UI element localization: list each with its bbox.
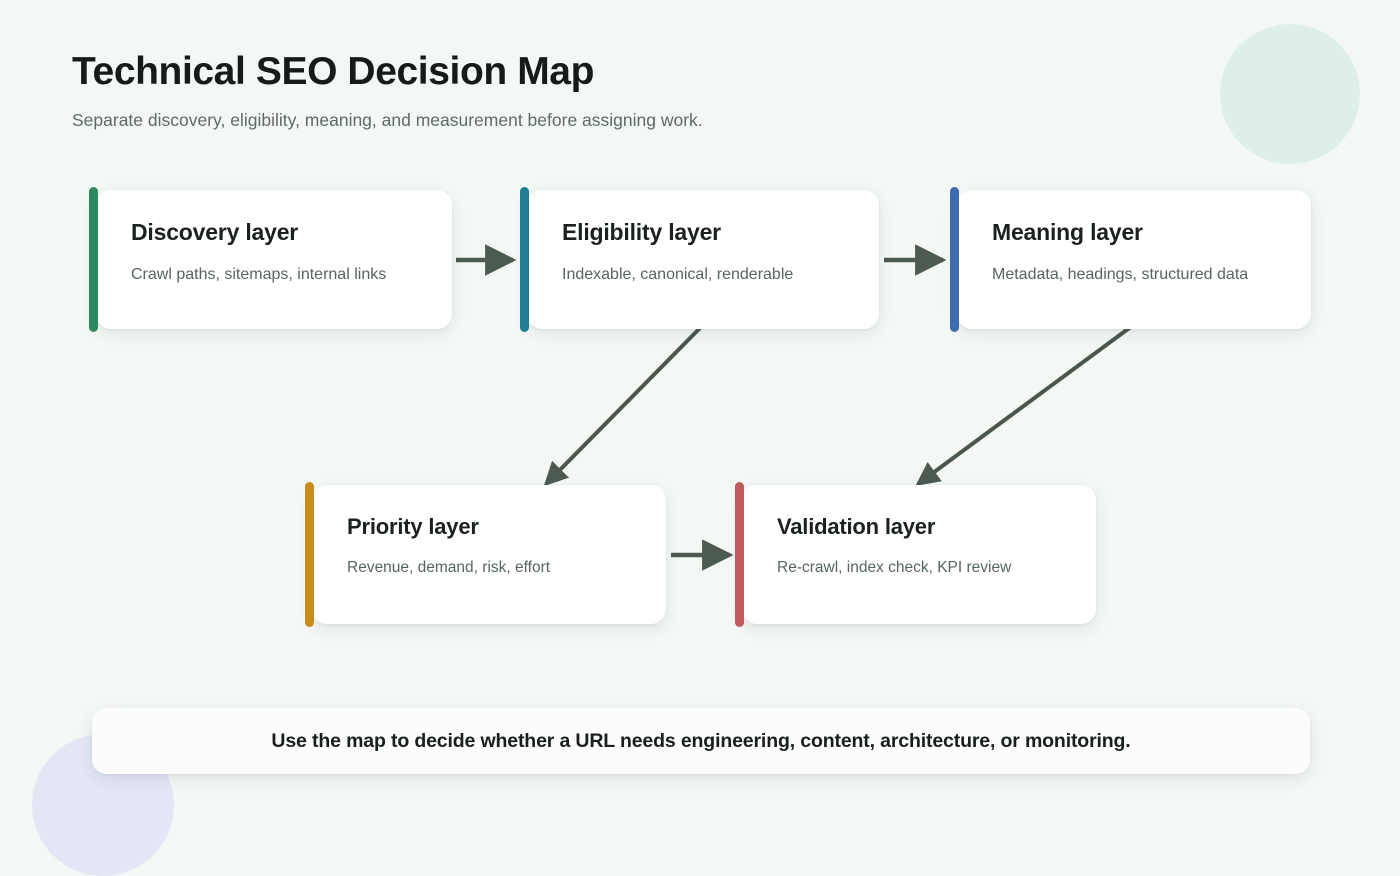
node-description: Revenue, demand, risk, effort	[347, 559, 638, 578]
arrow-meaning-to-validation	[918, 326, 1132, 484]
arrow-eligibility-to-priority	[546, 326, 702, 484]
node-body: Discovery layer Crawl paths, sitemaps, i…	[96, 190, 452, 329]
node-description: Re-crawl, index check, KPI review	[777, 559, 1068, 578]
page-subtitle: Separate discovery, eligibility, meaning…	[72, 109, 703, 132]
node-accent-bar-meaning	[950, 187, 959, 332]
node-card-priority[interactable]: Priority layer Revenue, demand, risk, ef…	[312, 485, 666, 624]
node-card-discovery[interactable]: Discovery layer Crawl paths, sitemaps, i…	[96, 190, 452, 329]
node-accent-bar-discovery	[89, 187, 98, 332]
page-title: Technical SEO Decision Map	[72, 50, 703, 94]
node-card-validation[interactable]: Validation layer Re-crawl, index check, …	[742, 485, 1096, 624]
header: Technical SEO Decision Map Separate disc…	[72, 50, 703, 131]
node-body: Validation layer Re-crawl, index check, …	[742, 485, 1096, 624]
node-card-meaning[interactable]: Meaning layer Metadata, headings, struct…	[957, 190, 1311, 329]
node-title: Eligibility layer	[562, 220, 851, 245]
node-accent-bar-priority	[305, 482, 314, 627]
node-description: Metadata, headings, structured data	[992, 265, 1283, 284]
footer-callout-text: Use the map to decide whether a URL need…	[271, 730, 1130, 753]
node-title: Priority layer	[347, 515, 638, 539]
node-body: Eligibility layer Indexable, canonical, …	[527, 190, 879, 329]
node-accent-bar-validation	[735, 482, 744, 627]
node-accent-bar-eligibility	[520, 187, 529, 332]
footer-callout: Use the map to decide whether a URL need…	[92, 708, 1310, 774]
node-title: Discovery layer	[131, 220, 424, 245]
node-title: Validation layer	[777, 515, 1068, 539]
node-description: Indexable, canonical, renderable	[562, 265, 851, 284]
node-title: Meaning layer	[992, 220, 1283, 245]
decorative-circle-mint	[1220, 24, 1360, 164]
node-body: Priority layer Revenue, demand, risk, ef…	[312, 485, 666, 624]
node-body: Meaning layer Metadata, headings, struct…	[957, 190, 1311, 329]
node-card-eligibility[interactable]: Eligibility layer Indexable, canonical, …	[527, 190, 879, 329]
node-description: Crawl paths, sitemaps, internal links	[131, 265, 424, 284]
